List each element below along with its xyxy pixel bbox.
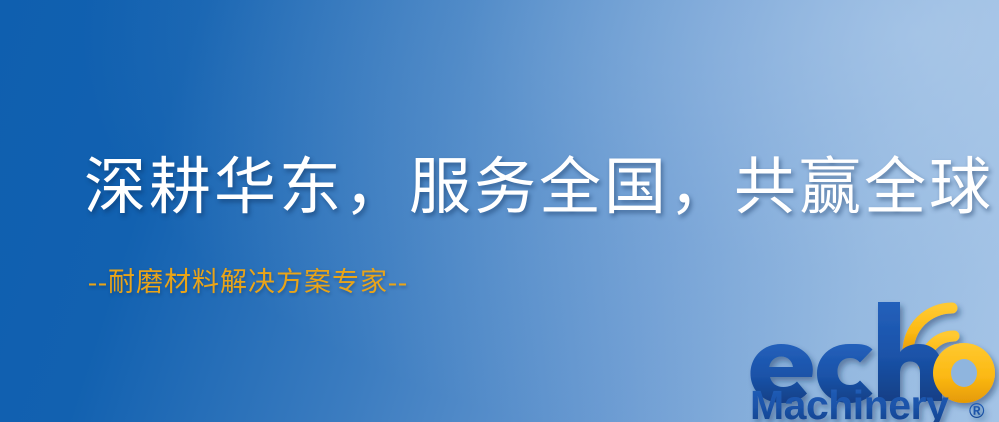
promotional-banner: 深耕华东，服务全国，共赢全球 --耐磨材料解决方案专家-- [0,0,999,422]
banner-subheadline: --耐磨材料解决方案专家-- [88,266,408,298]
logo-trademark: ® [969,400,985,422]
logo-tagline: Machinery [750,382,949,422]
banner-headline: 深耕华东，服务全国，共赢全球 [84,152,994,224]
echo-machinery-logo: Machinery ® [748,296,999,422]
